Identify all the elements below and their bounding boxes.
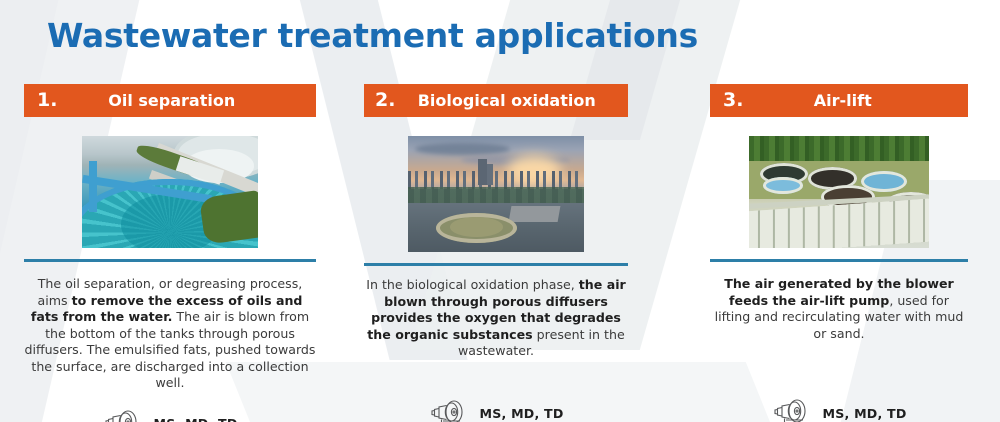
column-header-3[interactable]: 3. Air-lift — [710, 84, 968, 117]
photo-clarifier-tanks — [82, 136, 258, 248]
column-number-3: 3. — [710, 91, 743, 110]
column-body-1: The oil separation, or degreasing proces… — [24, 276, 316, 392]
blower-icon — [429, 399, 469, 422]
photo-wrap-2 — [364, 136, 628, 252]
column-body-2: In the biological oxidation phase, the a… — [364, 277, 628, 360]
blower-icon — [772, 398, 812, 422]
column-biological-oxidation: 2. Biological oxidation In the biologica… — [364, 84, 628, 422]
photo-wrap-1 — [24, 136, 316, 248]
column-footer-1: MS, MD, TD — [24, 409, 316, 422]
models-label-1: MS, MD, TD — [154, 416, 238, 422]
photo-plant-aerial-basins — [749, 136, 929, 248]
models-label-2: MS, MD, TD — [480, 406, 564, 421]
models-label-3: MS, MD, TD — [823, 406, 907, 421]
column-footer-3: MS, MD, TD — [710, 398, 968, 422]
divider-rule-1 — [24, 259, 316, 262]
photo-wrap-3 — [710, 136, 968, 248]
column-oil-separation: 1. Oil separation The oil separation, or… — [24, 84, 316, 422]
photo-plant-dusk-skyline — [408, 136, 584, 252]
column-header-2[interactable]: 2. Biological oxidation — [364, 84, 628, 117]
column-header-1[interactable]: 1. Oil separation — [24, 84, 316, 117]
page-title: Wastewater treatment applications — [47, 16, 698, 55]
column-title-1: Oil separation — [57, 93, 316, 109]
column-footer-2: MS, MD, TD — [364, 399, 628, 422]
divider-rule-3 — [710, 259, 968, 262]
slide-root: Wastewater treatment applications 1. Oil… — [0, 0, 1000, 422]
column-air-lift: 3. Air-lift The air generated by the blo… — [710, 84, 968, 422]
column-number-2: 2. — [364, 91, 395, 110]
column-number-1: 1. — [24, 91, 57, 110]
column-title-3: Air-lift — [743, 93, 968, 109]
column-title-2: Biological oxidation — [395, 93, 628, 109]
column-body-3: The air generated by the blower feeds th… — [710, 276, 968, 342]
divider-rule-2 — [364, 263, 628, 266]
blower-icon — [103, 409, 143, 422]
